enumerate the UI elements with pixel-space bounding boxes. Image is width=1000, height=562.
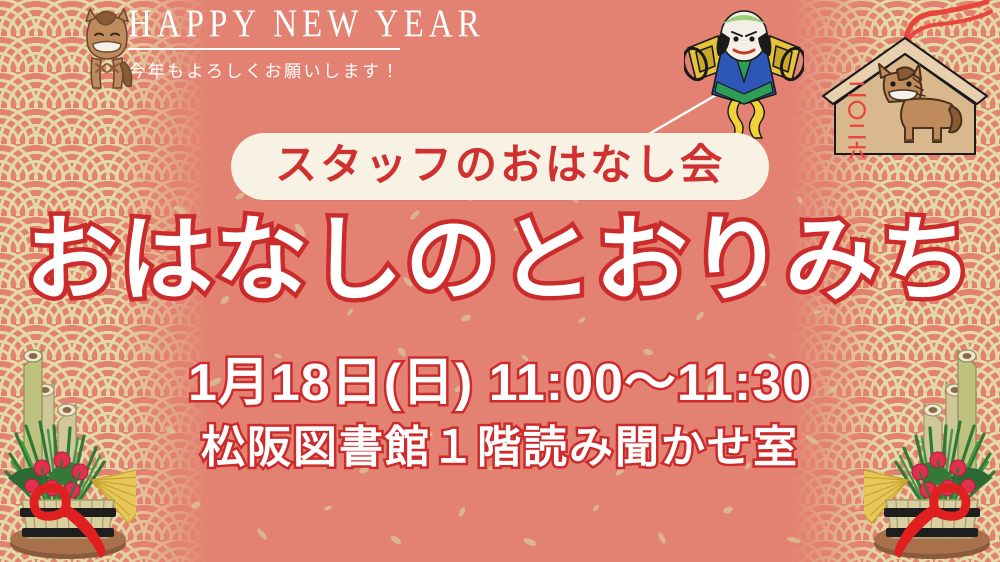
- event-details: 1月18日(日) 11:00〜11:30 松阪図書館１階読み聞かせ室: [0, 356, 1000, 471]
- greeting-header: HAPPY NEW YEAR 今年もよろしくお願いします！: [128, 4, 418, 82]
- ema-year-char-3: 二: [847, 122, 866, 143]
- new-year-event-poster: HAPPY NEW YEAR 今年もよろしくお願いします！: [0, 0, 1000, 562]
- kadomatsu-icon-right: [864, 330, 1000, 562]
- page-title: おはなしのとおりみち: [0, 214, 1000, 307]
- ema-year-char-2: 〇: [847, 100, 866, 122]
- yakko-dako-kite-icon: [684, 8, 804, 140]
- event-datetime: 1月18日(日) 11:00〜11:30: [0, 356, 1000, 411]
- event-series-badge: スタッフのおはなし会: [231, 133, 769, 200]
- ema-votive-tablet-icon: 二 〇 二 六: [809, 0, 994, 158]
- greeting-subtitle: 今年もよろしくお願いします！: [128, 57, 418, 82]
- badge-label: スタッフのおはなし会: [275, 144, 725, 186]
- ema-year-char-4: 六: [847, 141, 866, 158]
- ema-year-char-1: 二: [847, 80, 866, 101]
- event-venue: 松阪図書館１階読み聞かせ室: [0, 425, 1000, 471]
- header-divider: [128, 48, 400, 50]
- kadomatsu-icon-left: [0, 330, 136, 562]
- bowing-horse-icon: [74, 6, 140, 94]
- happy-new-year-title: HAPPY NEW YEAR: [128, 4, 418, 45]
